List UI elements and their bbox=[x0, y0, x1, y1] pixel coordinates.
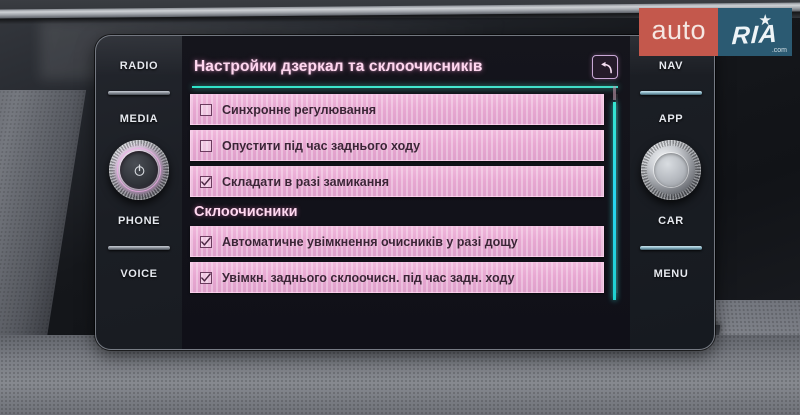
checkbox-checked[interactable] bbox=[200, 236, 212, 248]
list-item-label: Складати в разі замикання bbox=[222, 175, 389, 189]
watermark-ria: ★ RIA .com bbox=[718, 8, 792, 56]
checkbox-checked[interactable] bbox=[200, 176, 212, 188]
check-icon bbox=[201, 177, 211, 187]
page-title: Настройки дзеркал та склоочисників bbox=[194, 58, 483, 76]
knob-glow-ring bbox=[117, 148, 161, 192]
settings-list: Синхронне регулювання Опустити під час з… bbox=[190, 94, 620, 293]
list-item[interactable]: Автоматичне увімкнення очисників у разі … bbox=[190, 226, 604, 257]
screen-title-row: Настройки дзеркал та склоочисників bbox=[190, 52, 620, 82]
screen-content: Настройки дзеркал та склоочисників Синхр… bbox=[182, 36, 630, 349]
infotainment-head-unit: RADIO MEDIA PHONE VOICE Настройки дзерк bbox=[95, 35, 715, 350]
hard-button-menu[interactable]: MENU bbox=[654, 266, 689, 282]
check-icon bbox=[201, 273, 211, 283]
watermark-ria-text: RIA bbox=[731, 13, 779, 50]
tuning-knob[interactable] bbox=[641, 140, 701, 200]
hard-button-voice[interactable]: VOICE bbox=[120, 266, 157, 282]
power-volume-knob[interactable] bbox=[109, 140, 169, 200]
list-item-label: Автоматичне увімкнення очисників у разі … bbox=[222, 235, 518, 249]
separator-right-1 bbox=[640, 91, 702, 95]
right-button-column: NAV APP CAR MENU bbox=[628, 36, 714, 349]
hard-button-app[interactable]: APP bbox=[659, 111, 683, 127]
left-button-column: RADIO MEDIA PHONE VOICE bbox=[96, 36, 182, 349]
back-arrow-icon bbox=[598, 61, 613, 74]
hard-button-car[interactable]: CAR bbox=[658, 213, 684, 229]
list-item[interactable]: Синхронне регулювання bbox=[190, 94, 604, 125]
hard-button-radio[interactable]: RADIO bbox=[120, 58, 158, 74]
list-item[interactable]: Опустити під час заднього ходу bbox=[190, 130, 604, 161]
list-item[interactable]: Увімкн. заднього склоочисн. під час задн… bbox=[190, 262, 604, 293]
autoria-watermark: auto ★ RIA .com bbox=[639, 8, 792, 56]
list-item[interactable]: Складати в разі замикання bbox=[190, 166, 604, 197]
lcd-screen: Настройки дзеркал та склоочисників Синхр… bbox=[182, 36, 630, 349]
hard-button-media[interactable]: MEDIA bbox=[120, 111, 158, 127]
vertical-scrollbar[interactable] bbox=[615, 94, 618, 293]
back-button[interactable] bbox=[592, 55, 618, 79]
scrollbar-thumb[interactable] bbox=[613, 102, 616, 300]
separator-left-2 bbox=[108, 246, 170, 250]
knob-face bbox=[654, 153, 688, 187]
check-icon bbox=[201, 237, 211, 247]
hard-button-phone[interactable]: PHONE bbox=[118, 213, 160, 229]
right-knob-wrap bbox=[641, 127, 701, 213]
list-item-label: Опустити під час заднього ходу bbox=[222, 139, 420, 153]
list-item-label: Синхронне регулювання bbox=[222, 103, 376, 117]
checkbox-unchecked[interactable] bbox=[200, 140, 212, 152]
list-item-label: Увімкн. заднього склоочисн. під час задн… bbox=[222, 271, 515, 285]
watermark-domain-suffix: .com bbox=[772, 47, 787, 54]
checkbox-unchecked[interactable] bbox=[200, 104, 212, 116]
hard-button-nav[interactable]: NAV bbox=[659, 58, 683, 74]
watermark-auto: auto bbox=[639, 8, 718, 56]
scrollbar-track-top bbox=[613, 86, 616, 100]
title-underline bbox=[192, 86, 618, 88]
separator-left-1 bbox=[108, 91, 170, 95]
section-header: Склоочисники bbox=[194, 204, 604, 220]
checkbox-checked[interactable] bbox=[200, 272, 212, 284]
separator-right-2 bbox=[640, 246, 702, 250]
left-knob-wrap bbox=[109, 127, 169, 213]
